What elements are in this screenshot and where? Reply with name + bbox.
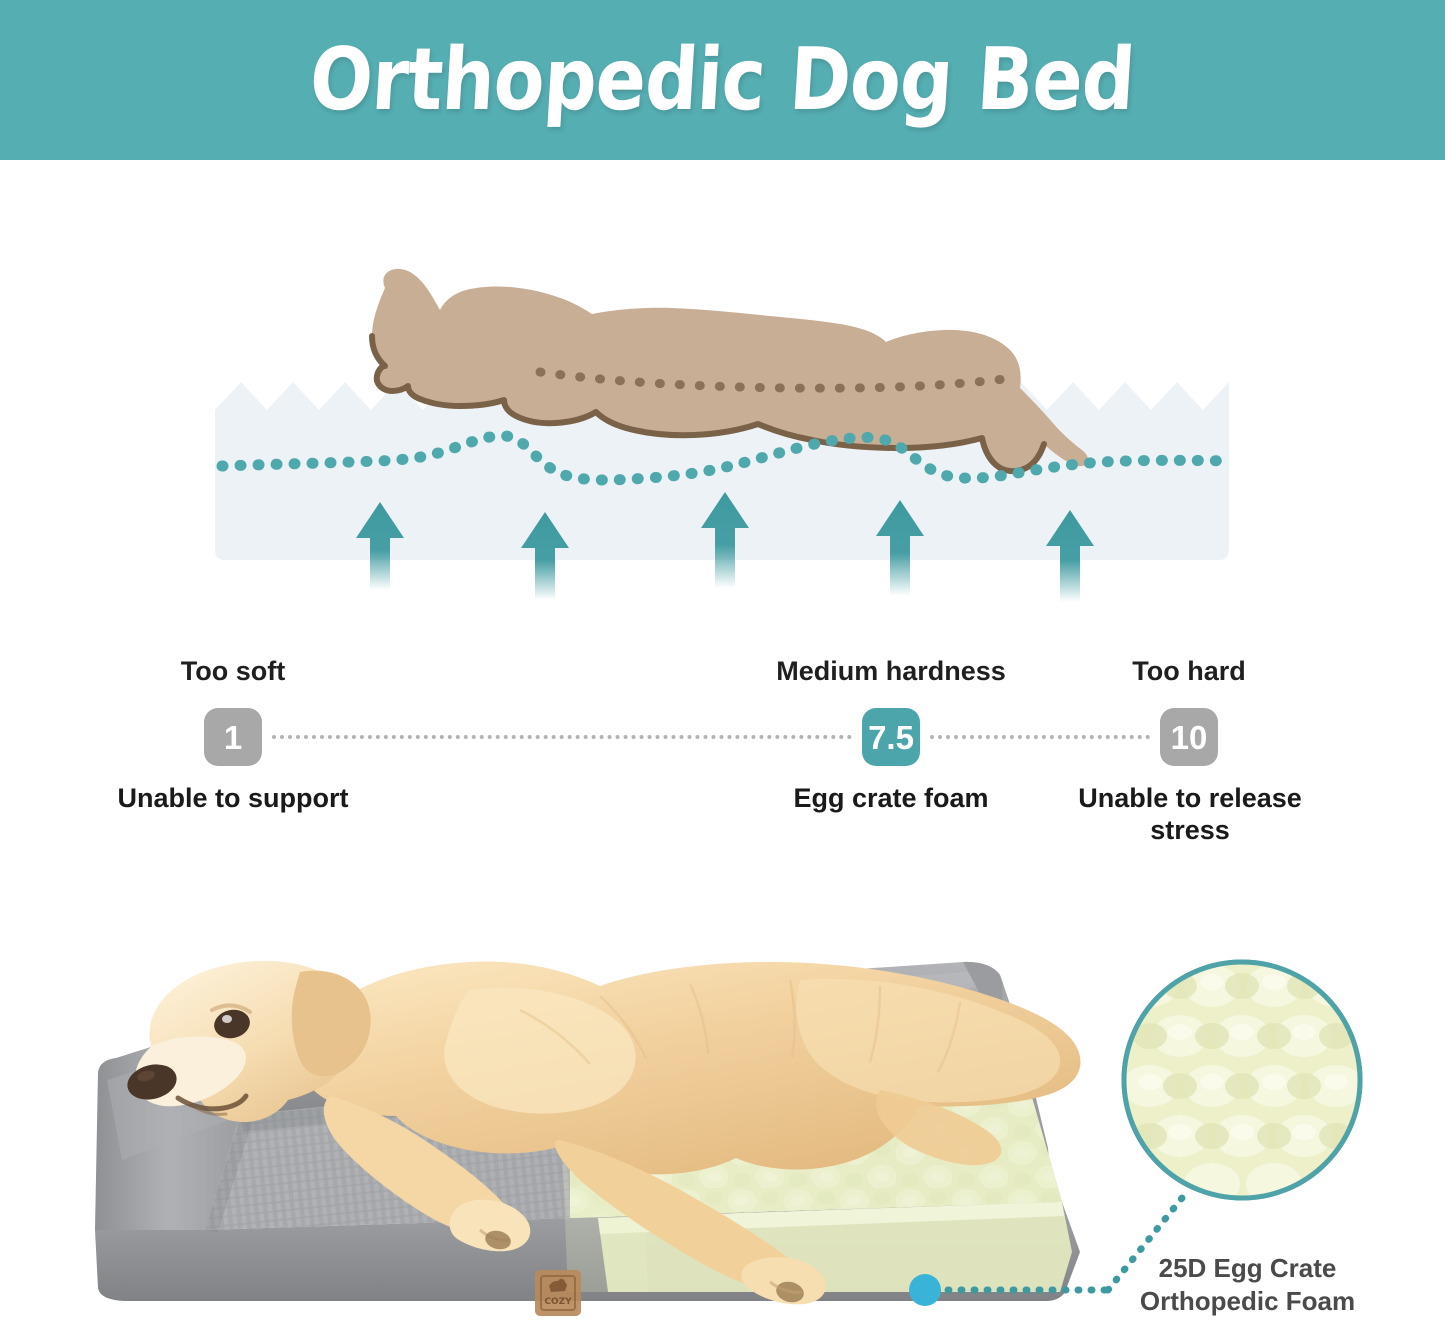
- callout-marker-dot: [909, 1274, 941, 1306]
- scale-top-label-3: Too hard: [1089, 656, 1289, 687]
- scale-track-left: [272, 735, 852, 743]
- scale-bottom-label-2: Egg crate foam: [761, 782, 1021, 814]
- callout-caption-line-2: Orthopedic Foam: [1105, 1285, 1390, 1318]
- scale-badge-2: 7.5: [862, 708, 920, 766]
- svg-text:COZY: COZY: [544, 1297, 572, 1307]
- header-banner: Orthopedic Dog Bed: [0, 0, 1445, 160]
- callout-caption: 25D Egg Crate Orthopedic Foam: [1105, 1252, 1390, 1319]
- brand-tag: COZY: [530, 1270, 581, 1342]
- callout-caption-line-1: 25D Egg Crate: [1105, 1252, 1390, 1285]
- scale-top-label-2: Medium hardness: [741, 656, 1041, 687]
- page-title: Orthopedic Dog Bed: [308, 37, 1137, 123]
- support-diagram: [0, 160, 1445, 630]
- scale-bottom-label-3: Unable to release stress: [1059, 782, 1321, 847]
- scale-top-label-1: Too soft: [133, 656, 333, 687]
- scale-bottom-label-1: Unable to support: [93, 782, 373, 814]
- scale-badge-1: 1: [204, 708, 262, 766]
- hardness-scale: Too soft 1 Unable to support Medium hard…: [0, 630, 1445, 890]
- scale-badge-3: 10: [1160, 708, 1218, 766]
- scale-track-right: [930, 735, 1150, 743]
